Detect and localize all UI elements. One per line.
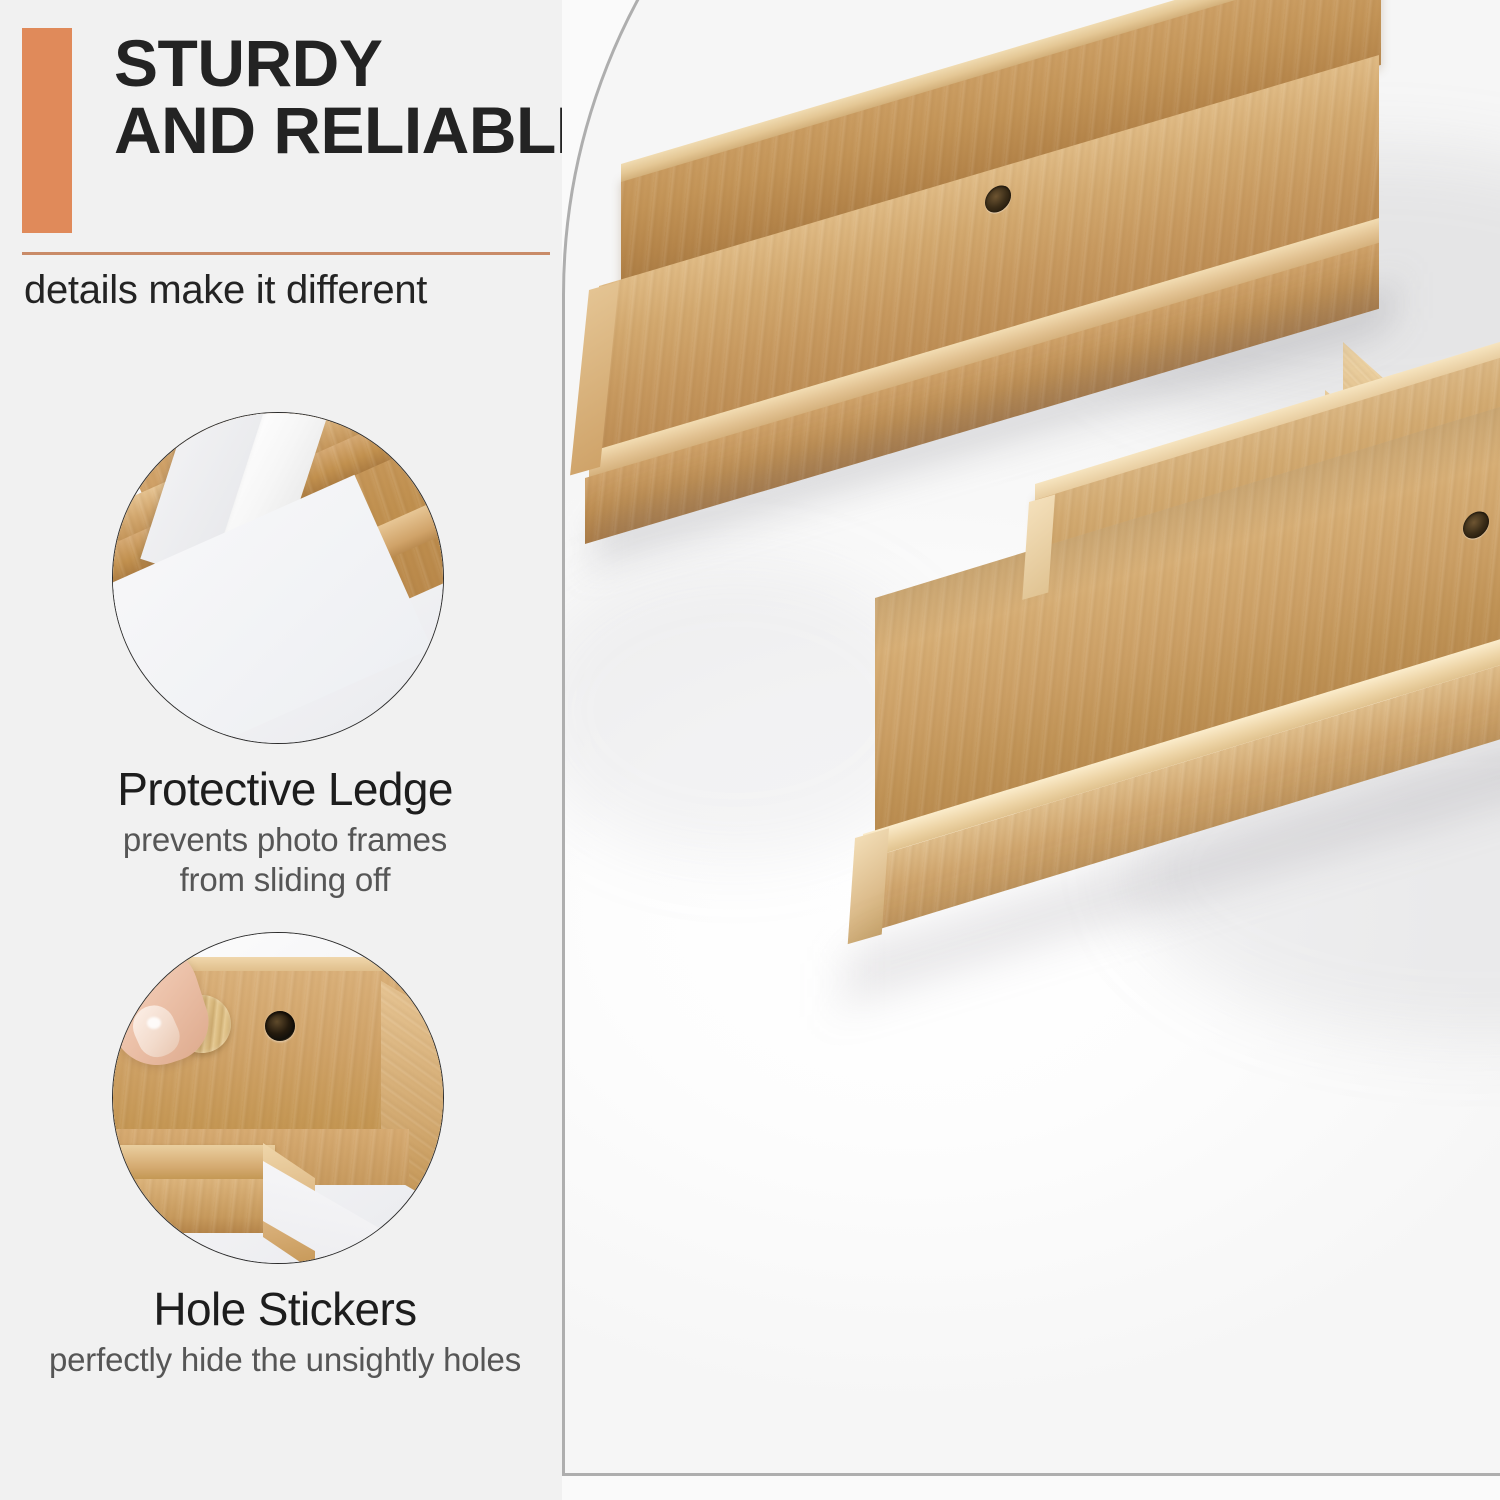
infographic-page: STURDY AND RELIABLE details make it diff… [0, 0, 1500, 1500]
stickers-photo [113, 933, 443, 1263]
stickers-photo-lip-face [112, 1179, 275, 1233]
feature-ledge-title: Protective Ledge [0, 762, 570, 816]
title-divider [22, 252, 550, 255]
stickers-photo-nail-highlight [147, 1017, 161, 1029]
left-content-panel: STURDY AND RELIABLE details make it diff… [0, 0, 570, 1500]
feature-stickers-title: Hole Stickers [0, 1282, 570, 1336]
feature-stickers-image-wrap [112, 932, 444, 1264]
feature-ledge-image-wrap [112, 412, 444, 744]
page-title: STURDY AND RELIABLE [114, 30, 584, 165]
feature-stickers-subtitle-line-1: perfectly hide the unsightly holes [0, 1340, 570, 1380]
hero-product-image [562, 0, 1500, 1500]
hero-arch-border [562, 0, 1500, 1476]
feature-ledge-subtitle-line-2: from sliding off [0, 860, 570, 900]
feature-stickers-circle-image [112, 932, 444, 1264]
feature-ledge-subtitle: prevents photo frames from sliding off [0, 820, 570, 901]
page-title-line-2: AND RELIABLE [114, 97, 584, 164]
ledge-photo [113, 413, 443, 743]
feature-stickers-subtitle: perfectly hide the unsightly holes [0, 1340, 570, 1380]
feature-ledge-subtitle-line-1: prevents photo frames [0, 820, 570, 860]
feature-ledge-circle-image [112, 412, 444, 744]
orange-accent-bar [22, 28, 72, 233]
page-subtitle: details make it different [24, 268, 564, 313]
feature-protective-ledge: Protective Ledge prevents photo frames f… [0, 412, 570, 901]
stickers-photo-screw-hole [265, 1011, 295, 1041]
feature-hole-stickers: Hole Stickers perfectly hide the unsight… [0, 932, 570, 1380]
page-title-line-1: STURDY [114, 30, 584, 97]
stickers-photo-front-lip [112, 1145, 275, 1181]
